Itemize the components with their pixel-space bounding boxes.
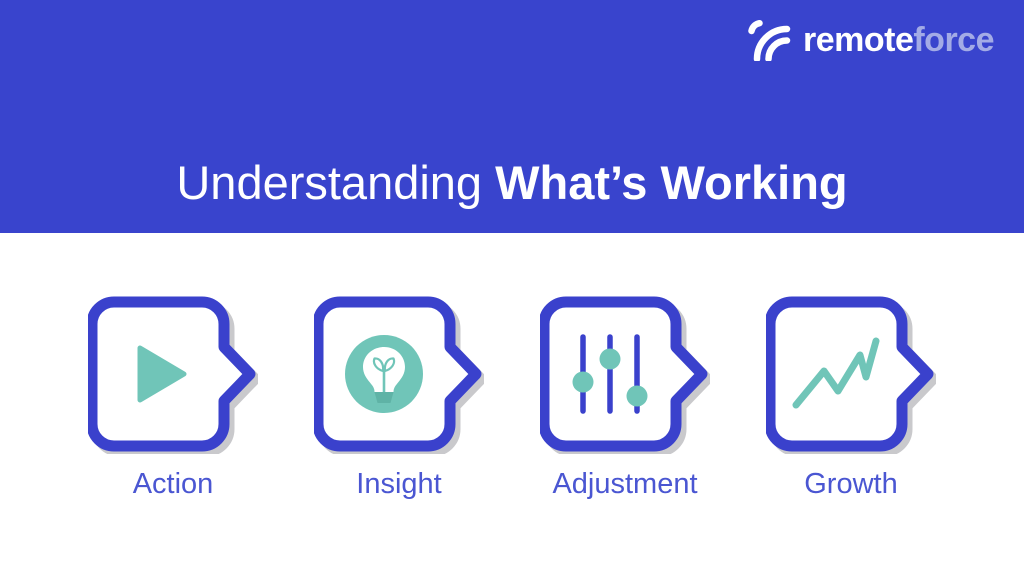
remoteforce-signal-arcs-logo-icon bbox=[747, 19, 791, 61]
page-title-light: Understanding bbox=[176, 156, 495, 209]
play-triangle-icon bbox=[104, 320, 212, 428]
steps-row: Action Insight bbox=[0, 294, 1024, 534]
step-card-insight[interactable]: Insight bbox=[286, 294, 512, 534]
step-card-action[interactable]: Action bbox=[60, 294, 286, 534]
brand-wordmark-secondary: force bbox=[913, 21, 994, 59]
step-label-adjustment: Adjustment bbox=[512, 466, 738, 502]
lightbulb-plant-icon bbox=[330, 320, 438, 428]
sliders-icon bbox=[556, 320, 664, 428]
step-card-growth[interactable]: Growth bbox=[738, 294, 964, 534]
page-title-bold: What’s Working bbox=[495, 156, 848, 209]
brand-wordmark-primary: remote bbox=[803, 21, 913, 59]
step-card-adjustment[interactable]: Adjustment bbox=[512, 294, 738, 534]
step-label-growth: Growth bbox=[738, 466, 964, 502]
brand-logo: remoteforce bbox=[747, 17, 994, 63]
brand-wordmark: remoteforce bbox=[803, 23, 994, 57]
step-label-action: Action bbox=[60, 466, 286, 502]
growth-line-chart-icon bbox=[782, 320, 890, 428]
page-title: Understanding What’s Working bbox=[0, 153, 1024, 213]
step-label-insight: Insight bbox=[286, 466, 512, 502]
